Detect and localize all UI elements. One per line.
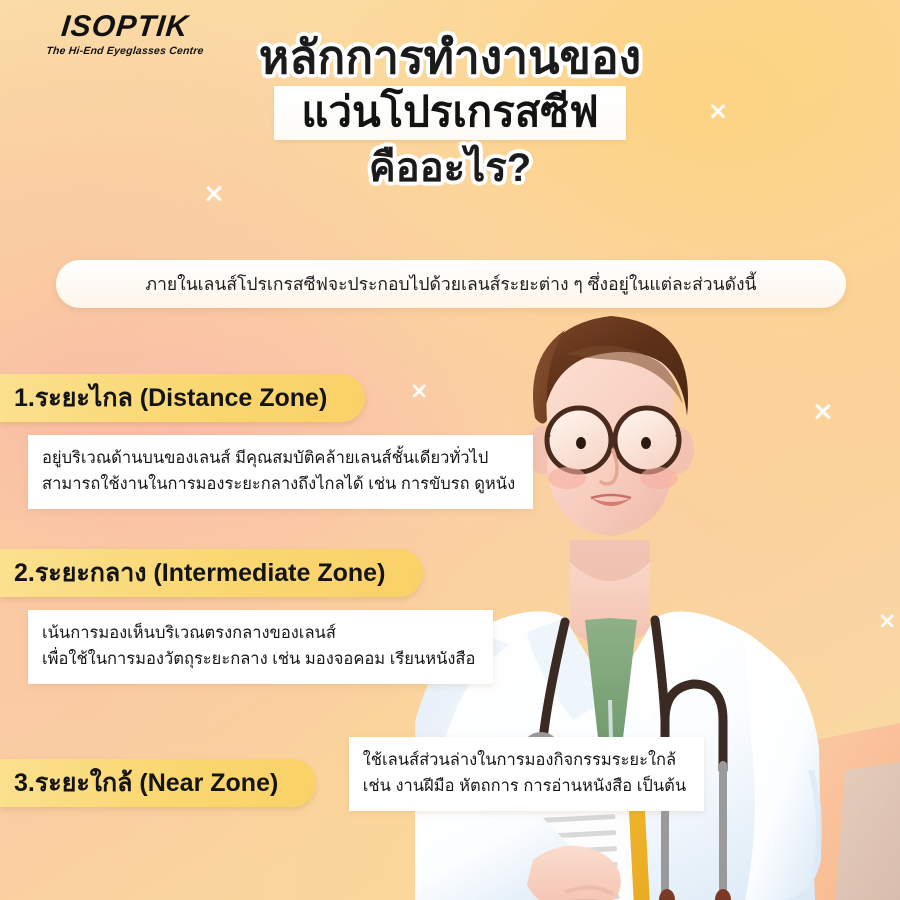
- section-1-body: อยู่บริเวณด้านบนของเลนส์ มีคุณสมบัติคล้า…: [28, 435, 533, 509]
- section-1-line-2: สามารถใช้งานในการมองระยะกลางถึงไกลได้ เช…: [42, 472, 515, 498]
- section-1-line-1: อยู่บริเวณด้านบนของเลนส์ มีคุณสมบัติคล้า…: [42, 446, 515, 472]
- section-3-line-1: ใช้เลนส์ส่วนล่างในการมองกิจกรรมระยะใกล้: [363, 748, 686, 774]
- title-line-2: แว่นโปรเกรสซีฟ: [274, 84, 626, 140]
- title-line-3: คืออะไร?: [0, 146, 900, 190]
- section-2-line-2: เพื่อใช้ในการมองวัตถุระยะกลาง เช่น มองจอ…: [42, 647, 475, 673]
- title-highlight-band: แว่นโปรเกรสซีฟ: [274, 86, 626, 140]
- section-2-line-1: เน้นการมองเห็นบริเวณตรงกลางของเลนส์: [42, 621, 475, 647]
- section-distance-zone: 1.ระยะไกล (Distance Zone) อยู่บริเวณด้าน…: [0, 374, 900, 509]
- section-2-heading: 2.ระยะกลาง (Intermediate Zone): [0, 549, 423, 597]
- section-1-heading: 1.ระยะไกล (Distance Zone): [0, 374, 365, 422]
- section-3-line-2: เช่น งานฝีมือ หัตถการ การอ่านหนังสือ เป็…: [363, 774, 686, 800]
- section-near-zone: 3.ระยะใกล้ (Near Zone) ใช้เลนส์ส่วนล่างใ…: [0, 724, 704, 811]
- subtitle-text: ภายในเลนส์โปรเกรสซีฟจะประกอบไปด้วยเลนส์ร…: [146, 270, 757, 298]
- infographic-poster: ✕✕✕✕✕: [0, 0, 900, 900]
- section-intermediate-zone: 2.ระยะกลาง (Intermediate Zone) เน้นการมอ…: [0, 549, 900, 684]
- title-line-1: หลักการทำงานของ: [0, 30, 900, 84]
- section-2-body: เน้นการมองเห็นบริเวณตรงกลางของเลนส์ เพื่…: [28, 610, 493, 684]
- section-3-heading: 3.ระยะใกล้ (Near Zone): [0, 759, 316, 807]
- page-title: หลักการทำงานของ แว่นโปรเกรสซีฟ คืออะไร?: [0, 30, 900, 190]
- subtitle-pill: ภายในเลนส์โปรเกรสซีฟจะประกอบไปด้วยเลนส์ร…: [56, 260, 846, 308]
- section-3-body: ใช้เลนส์ส่วนล่างในการมองกิจกรรมระยะใกล้ …: [349, 737, 704, 811]
